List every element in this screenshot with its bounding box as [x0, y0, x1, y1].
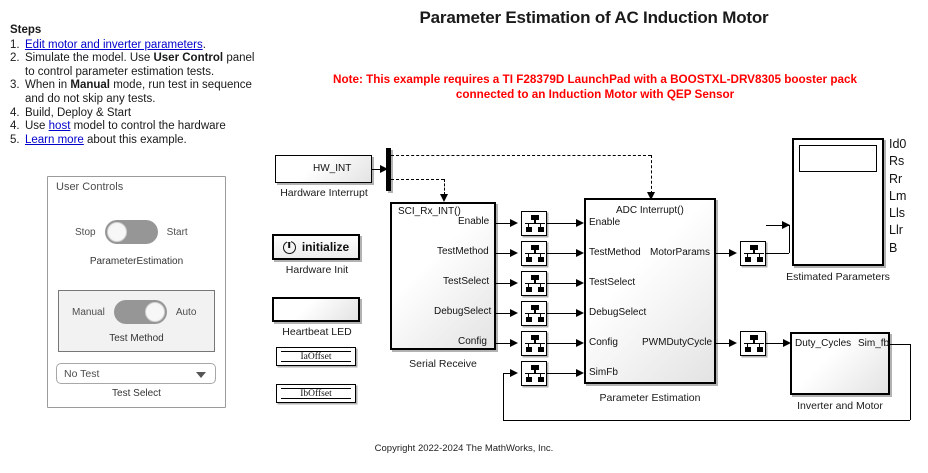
- signal-b: B: [889, 240, 906, 257]
- toggle-knob: [107, 222, 127, 242]
- test-select-dropdown[interactable]: No Test: [56, 363, 216, 384]
- toggle-manual-label: Manual: [72, 307, 105, 318]
- wire-feedback-left: [503, 420, 910, 421]
- parameter-estimation-toggle[interactable]: [105, 220, 158, 244]
- serial-out-enable: Enable: [458, 216, 489, 227]
- signal-rs: Rs: [889, 153, 906, 170]
- serial-receive-label: Serial Receive: [383, 358, 503, 370]
- adc-interrupt-trigger-label: ADC Interrupt(): [616, 205, 684, 216]
- arrow-debugselect-rt: [510, 309, 518, 317]
- signal-llr: Llr: [889, 222, 906, 239]
- rate-transition-icon[interactable]: [521, 211, 547, 236]
- arrow-sci-trigger: [440, 194, 448, 202]
- step-item-3: 3. When in Manual mode, run test in sequ…: [10, 79, 262, 106]
- wire-feedback-down: [910, 344, 911, 420]
- user-controls-caption: User Controls: [56, 181, 123, 193]
- dashed-wire-adc-down: [651, 155, 652, 194]
- step-text: When in Manual mode, run test in sequenc…: [25, 79, 262, 106]
- signal-lm: Lm: [889, 188, 906, 205]
- arrow-enable-rt: [510, 219, 518, 227]
- wire-to-estimated-params-h: [766, 253, 789, 254]
- step-item-2: 2. Simulate the model. Use User Control …: [10, 52, 262, 79]
- step-number: 4.: [10, 120, 25, 134]
- step-item-5: 4. Use host model to control the hardwar…: [10, 120, 262, 134]
- test-select-value: No Test: [64, 368, 99, 380]
- note-line-1: Note: This example requires a TI F28379D…: [250, 73, 928, 88]
- arrow-pe-simfb: [576, 369, 584, 377]
- step-item-4: 4. Build, Deploy & Start: [10, 107, 262, 121]
- serial-out-testmethod: TestMethod: [437, 246, 489, 257]
- host-model-link[interactable]: host: [49, 120, 71, 132]
- copyright-text: Copyright 2022-2024 The MathWorks, Inc.: [0, 443, 928, 454]
- test-method-toggle[interactable]: [114, 300, 167, 324]
- inverter-in-duty-cycles: Duty_Cycles: [795, 338, 851, 349]
- step-item-1: 1. Edit motor and inverter parameters.: [10, 39, 262, 53]
- dashed-wire-sci: [391, 179, 444, 180]
- hardware-init-label: Hardware Init: [262, 264, 372, 276]
- hardware-init-button[interactable]: initialize: [272, 234, 360, 260]
- pe-in-enable: Enable: [589, 217, 620, 228]
- arrow-config-rt: [510, 339, 518, 347]
- step-prefix: When in: [25, 79, 70, 91]
- step-number: 4.: [10, 107, 25, 121]
- rate-transition-icon[interactable]: [521, 301, 547, 326]
- user-controls-panel: User Controls Stop Start ParameterEstima…: [47, 176, 226, 408]
- step-suffix: .: [203, 39, 206, 51]
- rate-transition-icon[interactable]: [521, 271, 547, 296]
- dashed-wire-top: [391, 155, 651, 156]
- step-bold: User Control: [153, 52, 223, 64]
- step-bold: Manual: [70, 79, 110, 91]
- signal-lls: Lls: [889, 205, 906, 222]
- display-rule-bottom: [281, 361, 351, 362]
- wire-feedback-out: [890, 344, 910, 345]
- ia-offset-display[interactable]: IaOffset: [276, 347, 356, 366]
- pe-in-testselect: TestSelect: [589, 277, 635, 288]
- parameter-estimation-toggle-label: ParameterEstimation: [48, 256, 225, 267]
- display-rule-bottom: [281, 398, 351, 399]
- signal-rr: Rr: [889, 171, 906, 188]
- scope-screen: [799, 145, 877, 172]
- arrow-testmethod-rt: [510, 249, 518, 257]
- arrow-pe-enable: [576, 219, 584, 227]
- step-text: Edit motor and inverter parameters.: [25, 39, 262, 53]
- step-suffix: model to control the hardware: [70, 120, 225, 132]
- step-number: 5.: [10, 134, 25, 148]
- ib-offset-display[interactable]: IbOffset: [276, 384, 356, 403]
- page-title: Parameter Estimation of AC Induction Mot…: [264, 8, 924, 28]
- steps-list: 1. Edit motor and inverter parameters. 2…: [10, 39, 262, 148]
- parameter-estimation-toggle-row: Stop Start: [75, 220, 188, 244]
- arrow-pe-testselect: [576, 279, 584, 287]
- pe-in-debugselect: DebugSelect: [589, 307, 646, 318]
- step-number: 3.: [10, 79, 25, 93]
- step-number: 1.: [10, 39, 25, 53]
- chevron-down-icon: [196, 372, 206, 378]
- pe-in-simfb: SimFb: [589, 367, 618, 378]
- power-icon: [283, 241, 296, 254]
- heartbeat-led-label: Heartbeat LED: [262, 326, 372, 338]
- parameter-estimation-label: Parameter Estimation: [584, 392, 716, 404]
- inverter-and-motor-label: Inverter and Motor: [780, 400, 900, 412]
- test-select-label: Test Select: [48, 388, 225, 399]
- pe-in-testmethod: TestMethod: [589, 247, 641, 258]
- rate-transition-icon[interactable]: [740, 331, 766, 356]
- pe-out-motorparams: MotorParams: [650, 247, 710, 258]
- arrow-testselect-rt: [510, 279, 518, 287]
- dashed-wire-sci-down: [444, 179, 445, 195]
- estimated-parameters-signals: Id0 Rs Rr Lm Lls Llr B: [889, 136, 906, 257]
- arrow-pe-config: [576, 339, 584, 347]
- toggle-start-label: Start: [167, 227, 188, 238]
- hw-int-port-label: HW_INT: [313, 163, 351, 174]
- heartbeat-led-block[interactable]: [272, 297, 360, 322]
- step-text: Learn more about this example.: [25, 134, 262, 148]
- arrow-simfb-rt: [510, 369, 518, 377]
- arrow-estimated-params: [782, 221, 790, 229]
- estimated-parameters-block[interactable]: [792, 138, 884, 266]
- steps-panel: Steps 1. Edit motor and inverter paramet…: [10, 24, 262, 147]
- ia-offset-value: IaOffset: [277, 352, 355, 362]
- test-method-toggle-row: Manual Auto: [72, 300, 196, 324]
- serial-out-config: Config: [458, 336, 487, 347]
- rate-transition-icon[interactable]: [521, 241, 547, 266]
- steps-heading: Steps: [10, 24, 262, 38]
- hardware-interrupt-label: Hardware Interrupt: [262, 187, 386, 199]
- wire-feedback-up: [503, 373, 504, 420]
- inverter-out-sim-fb: Sim_fb: [858, 338, 889, 349]
- signal-id0: Id0: [889, 136, 906, 153]
- step-text: Simulate the model. Use User Control pan…: [25, 52, 262, 79]
- learn-more-link[interactable]: Learn more: [25, 134, 84, 146]
- rate-transition-icon[interactable]: [521, 331, 547, 356]
- test-method-label: Test Method: [59, 333, 214, 344]
- estimated-parameters-label: Estimated Parameters: [775, 271, 901, 283]
- arrow-pwmduty-rt: [729, 339, 737, 347]
- toggle-knob: [145, 302, 165, 322]
- step-prefix: Use: [25, 120, 49, 132]
- step-text: Use host model to control the hardware: [25, 120, 262, 134]
- ib-offset-value: IbOffset: [277, 389, 355, 399]
- note-line-2: connected to an Induction Motor with QEP…: [250, 88, 928, 103]
- step-suffix: about this example.: [84, 134, 187, 146]
- step-number: 2.: [10, 52, 25, 66]
- edit-parameters-link[interactable]: Edit motor and inverter parameters: [25, 39, 203, 51]
- arrow-pe-testmethod: [576, 249, 584, 257]
- arrow-pe-debugselect: [576, 309, 584, 317]
- toggle-auto-label: Auto: [176, 307, 197, 318]
- rate-transition-icon[interactable]: [521, 361, 547, 386]
- test-method-group: Manual Auto Test Method: [58, 290, 215, 352]
- serial-out-debugselect: DebugSelect: [434, 306, 491, 317]
- rate-transition-icon[interactable]: [740, 241, 766, 266]
- toggle-stop-label: Stop: [75, 227, 96, 238]
- requirements-note: Note: This example requires a TI F28379D…: [250, 73, 928, 102]
- step-text: Build, Deploy & Start: [25, 107, 262, 121]
- wire-to-estimated-params-v: [789, 225, 790, 253]
- hardware-init-button-label: initialize: [302, 240, 349, 254]
- pe-out-pwmdutycycle: PWMDutyCycle: [642, 337, 712, 348]
- pe-in-config: Config: [589, 337, 618, 348]
- step-prefix: Simulate the model. Use: [25, 52, 153, 64]
- arrow-motorparams-rt: [729, 249, 737, 257]
- serial-receive-trigger-label: SCI_Rx_INT(): [398, 206, 461, 217]
- step-item-6: 5. Learn more about this example.: [10, 134, 262, 148]
- serial-out-testselect: TestSelect: [443, 276, 489, 287]
